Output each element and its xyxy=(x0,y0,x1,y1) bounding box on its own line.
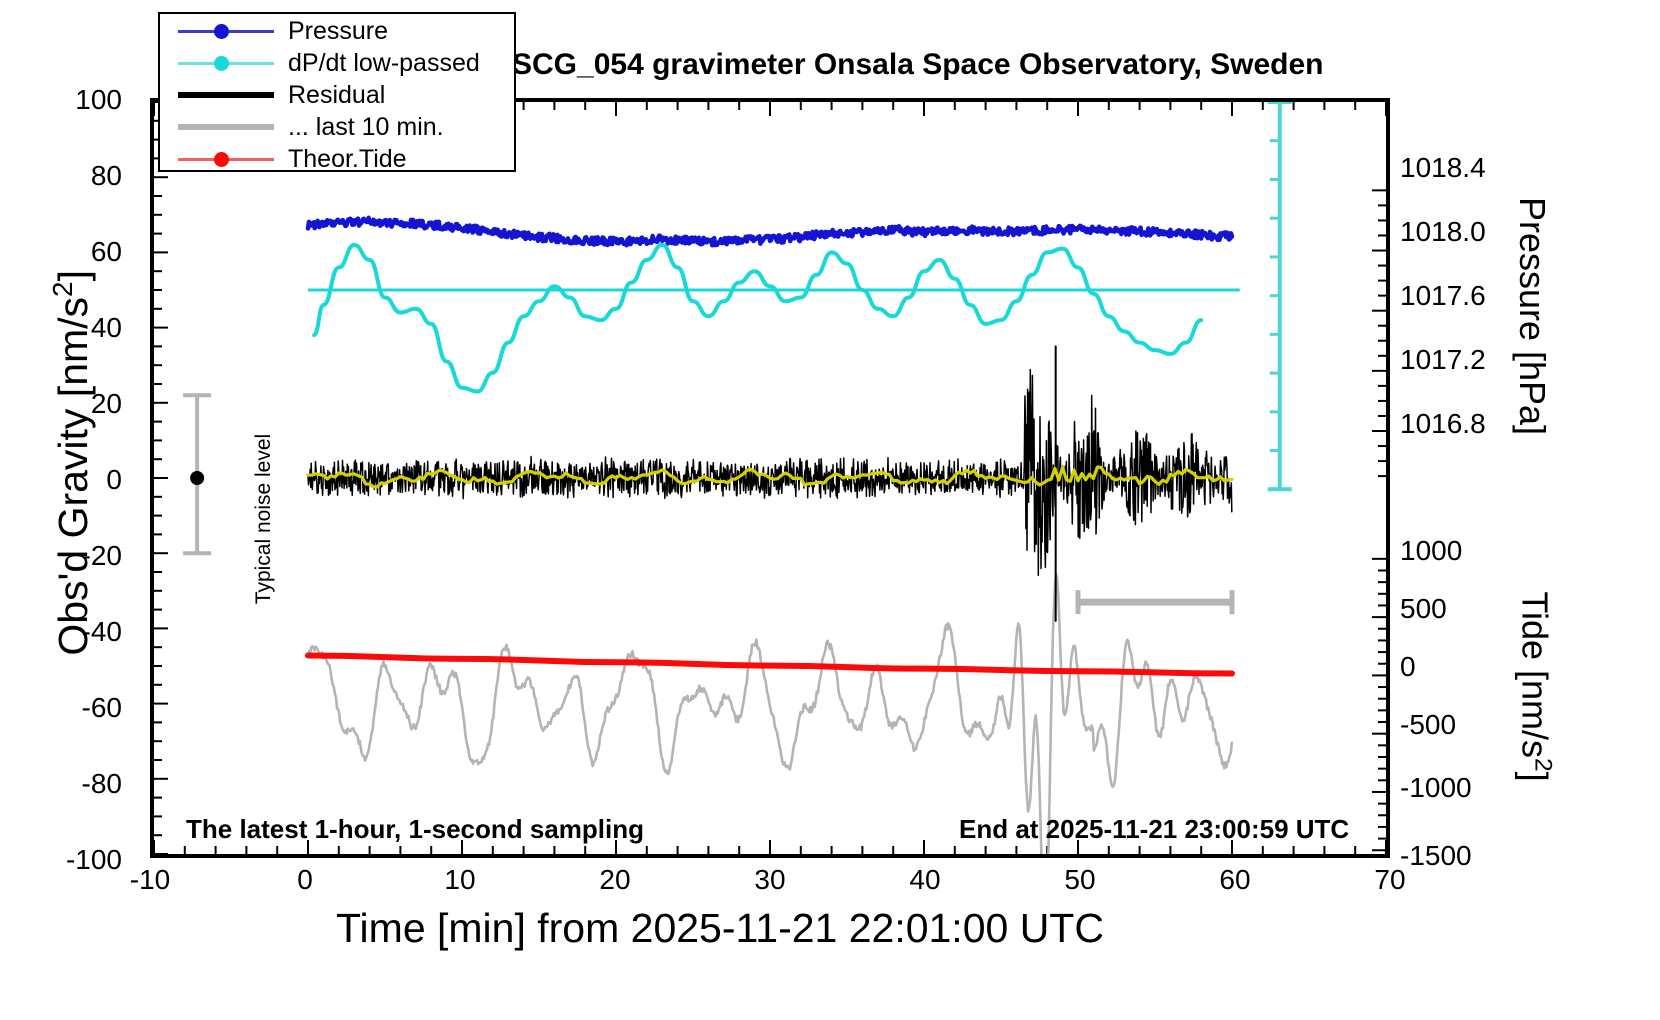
tide-tick-1000: 1000 xyxy=(1400,535,1530,567)
y-axis-left-title-tail: ] xyxy=(50,270,96,281)
x-tick-20: 20 xyxy=(570,864,660,896)
y-tick-m20: -20 xyxy=(42,540,122,572)
tide-tick-500: 500 xyxy=(1400,593,1530,625)
footer-right-text: End at 2025-11-21 23:00:59 UTC xyxy=(959,814,1349,845)
legend-line-tide xyxy=(174,144,278,174)
y-tick-m60: -60 xyxy=(42,692,122,724)
plot-area[interactable]: Typical noise level The latest 1-hour, 1… xyxy=(150,98,1390,858)
pressure-tick-1017-6: 1017.6 xyxy=(1400,280,1530,312)
y-tick-m40: -40 xyxy=(42,616,122,648)
x-axis-title: Time [min] from 2025-11-21 22:01:00 UTC xyxy=(130,905,1310,952)
y-tick-80: 80 xyxy=(42,160,122,192)
pressure-tick-1018-0: 1018.0 xyxy=(1400,216,1530,248)
x-tick-50: 50 xyxy=(1035,864,1125,896)
legend-item-residual[interactable]: Residual xyxy=(160,80,514,110)
page-title: SCG_054 gravimeter Onsala Space Observat… xyxy=(512,48,1372,82)
x-tick-40: 40 xyxy=(880,864,970,896)
legend-label-residual: Residual xyxy=(288,81,385,110)
pressure-tick-1018-4: 1018.4 xyxy=(1400,152,1530,184)
typical-noise-level-label: Typical noise level xyxy=(252,404,276,634)
legend-label-pressure: Pressure xyxy=(288,17,388,46)
chart-page: Obs'd Gravity [nm/s2] Time [min] from 20… xyxy=(0,0,1660,1020)
footer-left-text: The latest 1-hour, 1-second sampling xyxy=(186,814,644,845)
legend-item-tide[interactable]: Theor.Tide xyxy=(160,144,514,174)
tide-tick-m1500: -1500 xyxy=(1400,840,1530,872)
x-tick-m10: -10 xyxy=(105,864,195,896)
legend-label-tide: Theor.Tide xyxy=(288,145,407,174)
tide-tick-0: 0 xyxy=(1400,651,1530,683)
y-tick-0: 0 xyxy=(42,464,122,496)
y-tick-100: 100 xyxy=(42,84,122,116)
legend[interactable]: Pressure dP/dt low-passed Residual ... l… xyxy=(158,12,516,172)
legend-item-last10[interactable]: ... last 10 min. xyxy=(160,112,514,142)
y-axis-tide-title-sup: 2 xyxy=(1530,758,1557,772)
legend-label-last10: ... last 10 min. xyxy=(288,113,444,142)
y-axis-left-title-sup: 2 xyxy=(47,281,78,297)
y-tick-60: 60 xyxy=(42,236,122,268)
pressure-tick-1017-2: 1017.2 xyxy=(1400,344,1530,376)
tide-tick-m500: -500 xyxy=(1400,709,1530,741)
legend-line-last10 xyxy=(174,112,278,142)
legend-item-dpdt[interactable]: dP/dt low-passed xyxy=(160,48,514,78)
x-tick-10: 10 xyxy=(415,864,505,896)
y-tick-20: 20 xyxy=(42,388,122,420)
x-tick-0: 0 xyxy=(260,864,350,896)
legend-line-residual xyxy=(174,80,278,110)
x-tick-30: 30 xyxy=(725,864,815,896)
y-tick-40: 40 xyxy=(42,312,122,344)
legend-item-pressure[interactable]: Pressure xyxy=(160,16,514,46)
legend-line-pressure xyxy=(174,16,278,46)
x-tick-60: 60 xyxy=(1190,864,1280,896)
pressure-tick-1016-8: 1016.8 xyxy=(1400,408,1530,440)
data-series xyxy=(183,102,1292,854)
tide-tick-m1000: -1000 xyxy=(1400,772,1530,804)
legend-line-dpdt xyxy=(174,48,278,78)
plot-svg xyxy=(154,102,1386,854)
y-tick-m80: -80 xyxy=(42,768,122,800)
legend-label-dpdt: dP/dt low-passed xyxy=(288,49,480,78)
